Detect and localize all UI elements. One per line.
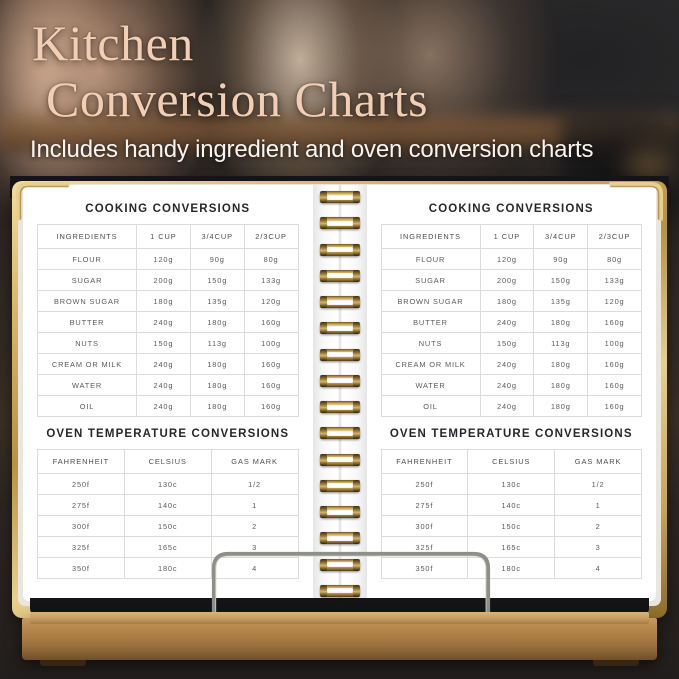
table-cell: 1/2 bbox=[211, 474, 298, 495]
table-cell: 150c bbox=[468, 516, 555, 537]
spiral-ring-cap-left bbox=[320, 270, 327, 282]
column-header: 1 CUP bbox=[137, 225, 191, 249]
spiral-ring bbox=[320, 427, 360, 439]
table-cell: 1 bbox=[211, 495, 298, 516]
table-row: BUTTER240g180g160g bbox=[381, 312, 642, 333]
table-cell: 180g bbox=[534, 396, 588, 417]
table-cell: 133g bbox=[588, 270, 642, 291]
table-cell: 2 bbox=[211, 516, 298, 537]
table-cell: 135g bbox=[190, 291, 244, 312]
table-cell: 3 bbox=[555, 537, 642, 558]
right-oven-title: OVEN TEMPERATURE CONVERSIONS bbox=[381, 428, 643, 440]
table-cell: NUTS bbox=[38, 333, 137, 354]
spiral-ring bbox=[320, 480, 360, 492]
column-header: INGREDIENTS bbox=[381, 225, 480, 249]
column-header: 2/3CUP bbox=[244, 225, 298, 249]
table-cell: CREAM OR MILK bbox=[381, 354, 480, 375]
spiral-ring-cap-right bbox=[353, 427, 360, 439]
spiral-ring-cap-left bbox=[320, 427, 327, 439]
spiral-ring-cap-left bbox=[320, 296, 327, 308]
table-cell: 130c bbox=[468, 474, 555, 495]
spiral-ring-cap-left bbox=[320, 217, 327, 229]
spiral-ring-cap-right bbox=[353, 191, 360, 203]
table-cell: 160g bbox=[588, 396, 642, 417]
table-cell: 150g bbox=[480, 333, 534, 354]
table-row: 350f180c4 bbox=[38, 558, 299, 579]
table-cell: 165c bbox=[468, 537, 555, 558]
table-cell: 165c bbox=[124, 537, 211, 558]
right-cooking-title: COOKING CONVERSIONS bbox=[381, 203, 643, 215]
table-cell: 2 bbox=[555, 516, 642, 537]
spiral-ring bbox=[320, 217, 360, 229]
table-cell: 120g bbox=[480, 249, 534, 270]
table-cell: 200g bbox=[480, 270, 534, 291]
spiral-ring bbox=[320, 585, 360, 597]
table-cell: 325f bbox=[38, 537, 125, 558]
spiral-ring-cap-right bbox=[353, 454, 360, 466]
table-cell: 90g bbox=[534, 249, 588, 270]
spiral-binding bbox=[318, 191, 362, 597]
spiral-ring-cap-left bbox=[320, 244, 327, 256]
table-cell: 1 bbox=[555, 495, 642, 516]
table-cell: BROWN SUGAR bbox=[381, 291, 480, 312]
right-page: COOKING CONVERSIONS INGREDIENTS1 CUP3/4C… bbox=[367, 185, 657, 601]
table-header-row: FAHRENHEITCELSIUSGAS MARK bbox=[381, 450, 642, 474]
spiral-ring-cap-right bbox=[353, 270, 360, 282]
table-cell: WATER bbox=[381, 375, 480, 396]
spiral-ring-cap-right bbox=[353, 401, 360, 413]
column-header: CELSIUS bbox=[124, 450, 211, 474]
table-cell: 120g bbox=[137, 249, 191, 270]
table-cell: 113g bbox=[190, 333, 244, 354]
left-oven-title: OVEN TEMPERATURE CONVERSIONS bbox=[37, 428, 299, 440]
spiral-ring bbox=[320, 375, 360, 387]
table-cell: 350f bbox=[381, 558, 468, 579]
table-cell: SUGAR bbox=[381, 270, 480, 291]
table-cell: BROWN SUGAR bbox=[38, 291, 137, 312]
spiral-ring bbox=[320, 270, 360, 282]
spiral-ring-cap-left bbox=[320, 532, 327, 544]
table-cell: WATER bbox=[38, 375, 137, 396]
table-cell: 80g bbox=[588, 249, 642, 270]
table-cell: 240g bbox=[137, 396, 191, 417]
table-cell: 180g bbox=[190, 312, 244, 333]
left-cooking-table: INGREDIENTS1 CUP3/4CUP2/3CUP FLOUR120g90… bbox=[37, 224, 299, 417]
book-stand-base bbox=[22, 618, 657, 660]
page-subtitle: Includes handy ingredient and oven conve… bbox=[30, 136, 653, 164]
table-cell: 240g bbox=[137, 312, 191, 333]
book-stand-lip bbox=[30, 612, 649, 624]
recipe-book: COOKING CONVERSIONS INGREDIENTS1 CUP3/4C… bbox=[12, 181, 667, 618]
screenshot-root: Kitchen Conversion Charts Includes handy… bbox=[0, 0, 679, 679]
table-cell: 240g bbox=[480, 375, 534, 396]
table-cell: CREAM OR MILK bbox=[38, 354, 137, 375]
spiral-ring-cap-right bbox=[353, 480, 360, 492]
table-cell: BUTTER bbox=[381, 312, 480, 333]
table-cell: 180c bbox=[468, 558, 555, 579]
table-row: OIL240g180g160g bbox=[381, 396, 642, 417]
spiral-ring bbox=[320, 191, 360, 203]
table-cell: 4 bbox=[555, 558, 642, 579]
table-row: FLOUR120g90g80g bbox=[38, 249, 299, 270]
table-cell: 160g bbox=[244, 312, 298, 333]
table-row: 325f165c3 bbox=[38, 537, 299, 558]
table-cell: OIL bbox=[38, 396, 137, 417]
table-row: 275f140c1 bbox=[38, 495, 299, 516]
table-cell: 3 bbox=[211, 537, 298, 558]
column-header: 2/3CUP bbox=[588, 225, 642, 249]
table-cell: 160g bbox=[588, 354, 642, 375]
spiral-ring bbox=[320, 532, 360, 544]
table-cell: 325f bbox=[381, 537, 468, 558]
column-header: GAS MARK bbox=[211, 450, 298, 474]
column-header: GAS MARK bbox=[555, 450, 642, 474]
table-row: BUTTER240g180g160g bbox=[38, 312, 299, 333]
table-cell: FLOUR bbox=[381, 249, 480, 270]
page-header: Kitchen Conversion Charts Includes handy… bbox=[0, 0, 679, 164]
spiral-ring-cap-left bbox=[320, 401, 327, 413]
table-cell: 150c bbox=[124, 516, 211, 537]
table-cell: 140c bbox=[124, 495, 211, 516]
page-title-line-2: Conversion Charts bbox=[46, 74, 653, 124]
table-row: 250f130c1/2 bbox=[38, 474, 299, 495]
table-row: NUTS150g113g100g bbox=[381, 333, 642, 354]
spiral-ring-cap-right bbox=[353, 532, 360, 544]
table-cell: 180g bbox=[534, 354, 588, 375]
spiral-ring bbox=[320, 559, 360, 571]
right-oven-table: FAHRENHEITCELSIUSGAS MARK 250f130c1/2275… bbox=[381, 449, 643, 579]
book-gutter bbox=[313, 185, 367, 601]
right-cooking-table: INGREDIENTS1 CUP3/4CUP2/3CUP FLOUR120g90… bbox=[381, 224, 643, 417]
table-cell: 120g bbox=[588, 291, 642, 312]
table-row: CREAM OR MILK240g180g160g bbox=[381, 354, 642, 375]
spiral-ring bbox=[320, 244, 360, 256]
spiral-ring bbox=[320, 322, 360, 334]
spiral-ring-cap-left bbox=[320, 585, 327, 597]
table-row: 325f165c3 bbox=[381, 537, 642, 558]
spiral-ring bbox=[320, 454, 360, 466]
column-header: INGREDIENTS bbox=[38, 225, 137, 249]
table-row: OIL240g180g160g bbox=[38, 396, 299, 417]
spiral-ring-cap-left bbox=[320, 191, 327, 203]
table-cell: 300f bbox=[38, 516, 125, 537]
column-header: 3/4CUP bbox=[190, 225, 244, 249]
table-row: 250f130c1/2 bbox=[381, 474, 642, 495]
table-row: 350f180c4 bbox=[381, 558, 642, 579]
table-row: 275f140c1 bbox=[381, 495, 642, 516]
table-cell: 240g bbox=[480, 312, 534, 333]
table-cell: 160g bbox=[588, 312, 642, 333]
spiral-ring-cap-right bbox=[353, 506, 360, 518]
table-row: NUTS150g113g100g bbox=[38, 333, 299, 354]
table-cell: 180g bbox=[190, 354, 244, 375]
book-page-spread: COOKING CONVERSIONS INGREDIENTS1 CUP3/4C… bbox=[23, 185, 656, 601]
column-header: 3/4CUP bbox=[534, 225, 588, 249]
table-cell: 275f bbox=[38, 495, 125, 516]
column-header: FAHRENHEIT bbox=[38, 450, 125, 474]
table-row: WATER240g180g160g bbox=[38, 375, 299, 396]
table-cell: 180g bbox=[534, 375, 588, 396]
table-cell: FLOUR bbox=[38, 249, 137, 270]
table-cell: SUGAR bbox=[38, 270, 137, 291]
spiral-ring-cap-left bbox=[320, 559, 327, 571]
table-header-row: INGREDIENTS1 CUP3/4CUP2/3CUP bbox=[381, 225, 642, 249]
table-row: 300f150c2 bbox=[381, 516, 642, 537]
table-cell: 180c bbox=[124, 558, 211, 579]
spiral-ring-cap-right bbox=[353, 296, 360, 308]
table-row: BROWN SUGAR180g135g120g bbox=[381, 291, 642, 312]
table-cell: 300f bbox=[381, 516, 468, 537]
table-header-row: FAHRENHEITCELSIUSGAS MARK bbox=[38, 450, 299, 474]
table-row: WATER240g180g160g bbox=[381, 375, 642, 396]
table-cell: 180g bbox=[534, 312, 588, 333]
spiral-ring-cap-left bbox=[320, 454, 327, 466]
spiral-ring-cap-left bbox=[320, 375, 327, 387]
table-header-row: INGREDIENTS1 CUP3/4CUP2/3CUP bbox=[38, 225, 299, 249]
table-row: 300f150c2 bbox=[38, 516, 299, 537]
spiral-ring bbox=[320, 506, 360, 518]
table-cell: 133g bbox=[244, 270, 298, 291]
column-header: CELSIUS bbox=[468, 450, 555, 474]
table-cell: 240g bbox=[137, 354, 191, 375]
table-cell: NUTS bbox=[381, 333, 480, 354]
table-cell: 160g bbox=[244, 354, 298, 375]
table-cell: 160g bbox=[244, 396, 298, 417]
table-cell: 180g bbox=[190, 396, 244, 417]
table-cell: 240g bbox=[137, 375, 191, 396]
spiral-ring bbox=[320, 296, 360, 308]
table-cell: OIL bbox=[381, 396, 480, 417]
spiral-ring-cap-right bbox=[353, 585, 360, 597]
table-row: CREAM OR MILK240g180g160g bbox=[38, 354, 299, 375]
left-oven-table: FAHRENHEITCELSIUSGAS MARK 250f130c1/2275… bbox=[37, 449, 299, 579]
table-cell: 240g bbox=[480, 396, 534, 417]
spiral-ring-cap-right bbox=[353, 244, 360, 256]
table-cell: 240g bbox=[480, 354, 534, 375]
table-cell: 1/2 bbox=[555, 474, 642, 495]
spiral-ring-cap-left bbox=[320, 322, 327, 334]
column-header: FAHRENHEIT bbox=[381, 450, 468, 474]
table-cell: 80g bbox=[244, 249, 298, 270]
table-cell: 180g bbox=[190, 375, 244, 396]
table-cell: 130c bbox=[124, 474, 211, 495]
spiral-ring-cap-left bbox=[320, 506, 327, 518]
table-row: SUGAR200g150g133g bbox=[38, 270, 299, 291]
spiral-ring-cap-right bbox=[353, 375, 360, 387]
table-cell: 160g bbox=[244, 375, 298, 396]
spiral-ring-cap-left bbox=[320, 480, 327, 492]
spiral-ring-cap-right bbox=[353, 349, 360, 361]
column-header: 1 CUP bbox=[480, 225, 534, 249]
table-cell: 200g bbox=[137, 270, 191, 291]
spiral-ring bbox=[320, 349, 360, 361]
left-page: COOKING CONVERSIONS INGREDIENTS1 CUP3/4C… bbox=[23, 185, 313, 601]
table-cell: 180g bbox=[480, 291, 534, 312]
spiral-ring-cap-right bbox=[353, 322, 360, 334]
table-cell: 135g bbox=[534, 291, 588, 312]
table-cell: 100g bbox=[588, 333, 642, 354]
table-cell: 150g bbox=[190, 270, 244, 291]
table-row: FLOUR120g90g80g bbox=[381, 249, 642, 270]
table-cell: 4 bbox=[211, 558, 298, 579]
spiral-ring bbox=[320, 401, 360, 413]
table-cell: 113g bbox=[534, 333, 588, 354]
page-title-line-1: Kitchen bbox=[32, 18, 653, 68]
table-cell: 90g bbox=[190, 249, 244, 270]
table-cell: 160g bbox=[588, 375, 642, 396]
table-cell: 350f bbox=[38, 558, 125, 579]
table-cell: 180g bbox=[137, 291, 191, 312]
table-cell: 120g bbox=[244, 291, 298, 312]
table-row: SUGAR200g150g133g bbox=[381, 270, 642, 291]
spiral-ring-cap-right bbox=[353, 217, 360, 229]
spiral-ring-cap-right bbox=[353, 559, 360, 571]
table-cell: 250f bbox=[38, 474, 125, 495]
table-cell: BUTTER bbox=[38, 312, 137, 333]
spiral-ring-cap-left bbox=[320, 349, 327, 361]
table-cell: 150g bbox=[137, 333, 191, 354]
table-cell: 100g bbox=[244, 333, 298, 354]
table-row: BROWN SUGAR180g135g120g bbox=[38, 291, 299, 312]
left-cooking-title: COOKING CONVERSIONS bbox=[37, 203, 299, 215]
table-cell: 140c bbox=[468, 495, 555, 516]
table-cell: 275f bbox=[381, 495, 468, 516]
table-cell: 150g bbox=[534, 270, 588, 291]
table-cell: 250f bbox=[381, 474, 468, 495]
